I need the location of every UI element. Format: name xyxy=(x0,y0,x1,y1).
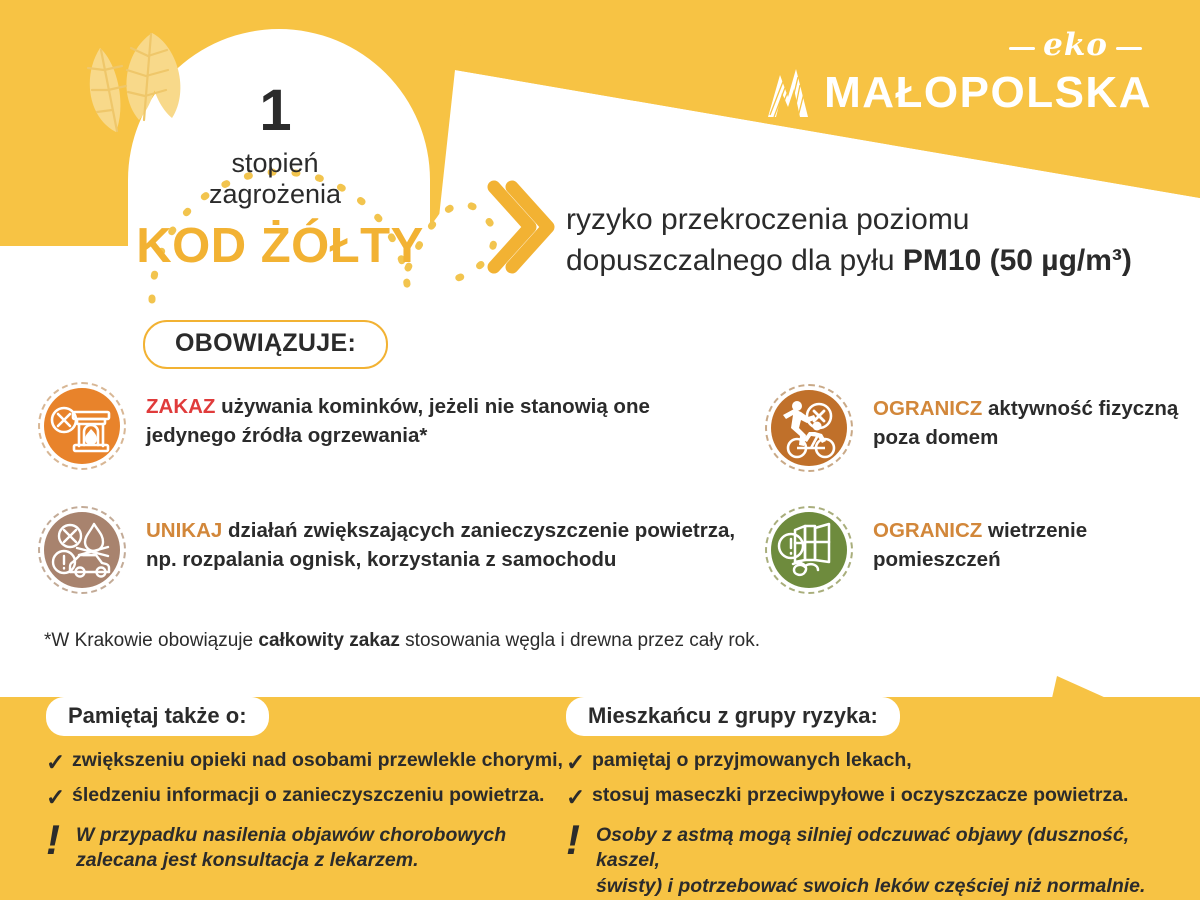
warning-line2: świsty) i potrzebować swoich leków częśc… xyxy=(596,875,1145,897)
bottom-column-risk-group: Mieszkańcu z grupy ryzyka: ✓ pamiętaj o … xyxy=(566,697,1166,900)
runner-cyclist-prohibited-icon xyxy=(765,384,853,472)
list-item: ✓ stosuj maseczki przeciwpyłowe i oczysz… xyxy=(566,783,1166,812)
footnote: *W Krakowie obowiązuje całkowity zakaz s… xyxy=(44,630,760,652)
headline-line2-plain: dopuszczalnego dla pyłu xyxy=(566,244,903,277)
rule-lead-unikaj: UNIKAJ xyxy=(146,519,222,542)
warning-line1: Osoby z astmą mogą silniej odczuwać obja… xyxy=(596,824,1129,872)
rule-row-bonfire-car: UNIKAJ działań zwiększających zanieczysz… xyxy=(38,506,738,594)
headline-line2: dopuszczalnego dla pyłu PM10 (50 µg/m³) xyxy=(566,240,1200,281)
rule-text-fireplace: ZAKAZ używania kominków, jeżeli nie stan… xyxy=(146,382,718,450)
warning-text: Osoby z astmą mogą silniej odczuwać obja… xyxy=(596,823,1166,900)
bonfire-car-warning-icon xyxy=(38,506,126,594)
rule-lead-zakaz: ZAKAZ xyxy=(146,395,215,418)
bonfire-car-glyph xyxy=(44,512,120,588)
mountain-m-icon xyxy=(764,67,812,119)
open-window-glyph xyxy=(771,512,847,588)
exclamation-icon: ! xyxy=(46,823,76,857)
check-mark-icon: ✓ xyxy=(46,748,72,777)
check-mark-icon: ✓ xyxy=(566,748,592,777)
warning-line2: zalecana jest konsultacja z lekarzem. xyxy=(76,849,419,871)
level-number: 1 xyxy=(200,82,350,140)
warning-line1: W przypadku nasilenia objawów chorobowyc… xyxy=(76,824,506,846)
check-mark-icon: ✓ xyxy=(46,783,72,812)
bottom-column-remember: Pamiętaj także o: ✓ zwiększeniu opieki n… xyxy=(46,697,566,874)
list-item: ✓ śledzeniu informacji o zanieczyszczeni… xyxy=(46,783,566,812)
rule-row-activity: OGRANICZ aktywność fizyczną poza domem xyxy=(765,384,1185,472)
bottom-heading-remember: Pamiętaj także o: xyxy=(46,697,269,736)
infographic-root: eko MAŁOPOLSKA 1 stopień zagrożenia KOD … xyxy=(0,0,1200,900)
headline-line2-bold: PM10 (50 µg/m³) xyxy=(903,244,1132,277)
code-label: KOD ŻÓŁTY xyxy=(120,222,440,271)
bullet-text: śledzeniu informacji o zanieczyszczeniu … xyxy=(72,783,544,808)
rule-row-fireplace: ZAKAZ używania kominków, jeżeli nie stan… xyxy=(38,382,718,470)
level-label-line1: stopień xyxy=(160,148,390,179)
rule-text-ventilation: OGRANICZ wietrzenie pomieszczeń xyxy=(873,506,1185,574)
logo-name: MAŁOPOLSKA xyxy=(824,71,1152,115)
rule-body-zakaz: używania kominków, jeżeli nie stanowią o… xyxy=(146,395,650,447)
applies-badge: OBOWIĄZUJE: xyxy=(143,320,388,369)
list-item: ✓ zwiększeniu opieki nad osobami przewle… xyxy=(46,748,566,777)
rule-body-unikaj: działań zwiększających zanieczyszczenie … xyxy=(146,519,735,571)
list-item: ✓ pamiętaj o przyjmowanych lekach, xyxy=(566,748,1166,777)
rule-lead-ogranicz-activity: OGRANICZ xyxy=(873,397,982,420)
runner-cyclist-glyph xyxy=(771,390,847,466)
level-label-line2: zagrożenia xyxy=(160,179,390,210)
level-label: stopień zagrożenia xyxy=(160,148,390,211)
bottom-warning-risk-group: ! Osoby z astmą mogą silniej odczuwać ob… xyxy=(566,823,1166,900)
headline: ryzyko przekroczenia poziomu dopuszczaln… xyxy=(566,199,1200,282)
bullet-text: pamiętaj o przyjmowanych lekach, xyxy=(592,748,912,773)
fireplace-prohibited-icon xyxy=(38,382,126,470)
rule-text-activity: OGRANICZ aktywność fizyczną poza domem xyxy=(873,384,1185,452)
bottom-bullets-remember: ✓ zwiększeniu opieki nad osobami przewle… xyxy=(46,748,566,812)
footnote-pre: *W Krakowie obowiązuje xyxy=(44,630,258,651)
headline-line1: ryzyko przekroczenia poziomu xyxy=(566,199,1200,240)
exclamation-icon: ! xyxy=(566,823,596,857)
check-mark-icon: ✓ xyxy=(566,783,592,812)
bottom-bullets-risk-group: ✓ pamiętaj o przyjmowanych lekach, ✓ sto… xyxy=(566,748,1166,812)
rule-text-bonfire-car: UNIKAJ działań zwiększających zanieczysz… xyxy=(146,506,738,574)
bullet-text: zwiększeniu opieki nad osobami przewlekl… xyxy=(72,748,563,773)
fireplace-glyph xyxy=(44,388,120,464)
bullet-text: stosuj maseczki przeciwpyłowe i oczyszcz… xyxy=(592,783,1128,808)
logo: eko MAŁOPOLSKA xyxy=(764,30,1152,119)
footnote-post: stosowania węgla i drewna przez cały rok… xyxy=(400,630,760,651)
rule-lead-ogranicz-vent: OGRANICZ xyxy=(873,519,982,542)
bottom-heading-risk-group: Mieszkańcu z grupy ryzyka: xyxy=(566,697,900,736)
rule-row-ventilation: OGRANICZ wietrzenie pomieszczeń xyxy=(765,506,1185,594)
bottom-panel: Pamiętaj także o: ✓ zwiększeniu opieki n… xyxy=(0,697,1200,900)
bottom-warning-remember: ! W przypadku nasilenia objawów chorobow… xyxy=(46,823,566,874)
warning-text: W przypadku nasilenia objawów chorobowyc… xyxy=(76,823,506,874)
open-window-warning-icon xyxy=(765,506,853,594)
footnote-bold: całkowity zakaz xyxy=(258,630,400,651)
logo-eko-script: eko xyxy=(1043,30,1108,61)
